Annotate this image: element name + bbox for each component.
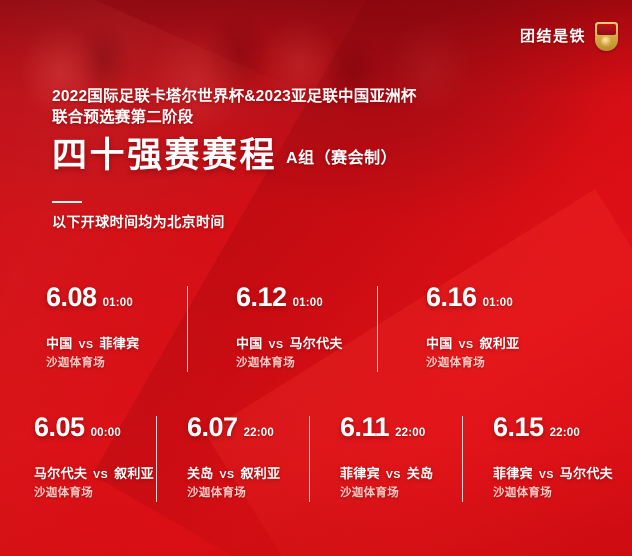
column-separator [462, 416, 463, 502]
fixture-home-team: 关岛 [187, 466, 214, 481]
fixture-datetime: 6.15 22:00 [493, 412, 632, 442]
heading-block: 2022国际足联卡塔尔世界杯&2023亚足联中国亚洲杯 联合预选赛第二阶段 四十… [52, 86, 417, 232]
fixture-cell: 6.08 01:00 中国 VS 菲律宾 沙迦体育场 [0, 282, 222, 370]
fixture-datetime: 6.11 22:00 [340, 412, 479, 442]
fixture-vs-label: VS [77, 339, 96, 351]
fixture-time: 01:00 [293, 296, 323, 310]
fixture-home-team: 中国 [46, 336, 73, 351]
fixture-date: 6.16 [426, 282, 477, 312]
fixture-away-team: 叙利亚 [240, 466, 280, 481]
fixture-cell: 6.15 22:00 菲律宾 VS 马尔代夫 沙迦体育场 [479, 412, 632, 500]
kicker-line-2: 联合预选赛第二阶段 [52, 107, 417, 128]
fixture-away-team: 马尔代夫 [289, 336, 342, 351]
fixture-teams: 中国 VS 菲律宾 [46, 336, 222, 353]
fixture-teams: 中国 VS 叙利亚 [426, 336, 602, 353]
fixture-venue: 沙迦体育场 [46, 356, 222, 370]
fixture-teams: 关岛 VS 叙利亚 [187, 466, 326, 483]
fixture-cell: 6.11 22:00 菲律宾 VS 关岛 沙迦体育场 [326, 412, 479, 500]
fixture-cell: 6.12 01:00 中国 VS 马尔代夫 沙迦体育场 [222, 282, 412, 370]
fixture-vs-label: VS [384, 469, 403, 481]
fixture-time: 01:00 [483, 296, 513, 310]
fixture-cell: 6.16 01:00 中国 VS 叙利亚 沙迦体育场 [412, 282, 602, 370]
schedule-poster: 团结是铁 2022国际足联卡塔尔世界杯&2023亚足联中国亚洲杯 联合预选赛第二… [0, 0, 632, 556]
fixture-away-team: 马尔代夫 [560, 466, 613, 481]
fixture-vs-label: VS [218, 469, 237, 481]
fixture-date: 6.12 [236, 282, 287, 312]
fixture-date: 6.11 [340, 412, 389, 442]
divider-rule [52, 201, 82, 203]
brand-lockup: 团结是铁 [520, 22, 618, 51]
brand-slogan: 团结是铁 [520, 29, 586, 44]
fixture-datetime: 6.16 01:00 [426, 282, 602, 312]
column-separator [377, 286, 378, 372]
fixture-vs-label: VS [91, 469, 110, 481]
fixture-venue: 沙迦体育场 [34, 486, 173, 500]
fixture-time: 00:00 [91, 426, 121, 440]
fixture-teams: 菲律宾 VS 马尔代夫 [493, 466, 632, 483]
fixture-date: 6.05 [34, 412, 85, 442]
fixture-date: 6.08 [46, 282, 97, 312]
fixture-time: 01:00 [103, 296, 133, 310]
fixture-home-team: 中国 [426, 336, 453, 351]
fixture-teams: 马尔代夫 VS 叙利亚 [34, 466, 173, 483]
fixture-time: 22:00 [244, 426, 274, 440]
fixture-home-team: 菲律宾 [340, 466, 380, 481]
fixture-vs-label: VS [537, 469, 556, 481]
fixture-teams: 菲律宾 VS 关岛 [340, 466, 479, 483]
fixture-venue: 沙迦体育场 [236, 356, 412, 370]
fixture-datetime: 6.12 01:00 [236, 282, 412, 312]
fixture-date: 6.15 [493, 412, 544, 442]
fixture-home-team: 马尔代夫 [34, 466, 87, 481]
fixture-row-1: 6.08 01:00 中国 VS 菲律宾 沙迦体育场 6.12 01:00 中国 [0, 282, 632, 370]
fixture-datetime: 6.08 01:00 [46, 282, 222, 312]
fixture-away-team: 菲律宾 [99, 336, 139, 351]
column-separator [309, 416, 310, 502]
page-title: 四十强赛赛程 [52, 137, 277, 175]
fixture-venue: 沙迦体育场 [493, 486, 632, 500]
fixture-row-2: 6.05 00:00 马尔代夫 VS 叙利亚 沙迦体育场 6.07 22:00 … [0, 412, 632, 500]
fixture-venue: 沙迦体育场 [426, 356, 602, 370]
fixture-venue: 沙迦体育场 [187, 486, 326, 500]
fixture-time: 22:00 [395, 426, 425, 440]
fixture-venue: 沙迦体育场 [340, 486, 479, 500]
fixture-date: 6.07 [187, 412, 238, 442]
page-title-suffix: A组（赛会制） [286, 146, 397, 175]
timezone-note: 以下开球时间均为北京时间 [52, 212, 417, 232]
title-row: 四十强赛赛程 A组（赛会制） [52, 137, 417, 175]
fixture-vs-label: VS [457, 339, 476, 351]
column-separator [156, 416, 157, 502]
fixture-time: 22:00 [550, 426, 580, 440]
kicker-line-1: 2022国际足联卡塔尔世界杯&2023亚足联中国亚洲杯 [52, 88, 417, 105]
cfa-crest-icon [595, 22, 618, 51]
fixture-away-team: 叙利亚 [114, 466, 154, 481]
fixture-home-team: 中国 [236, 336, 263, 351]
fixture-home-team: 菲律宾 [493, 466, 533, 481]
fixture-cell: 6.07 22:00 关岛 VS 叙利亚 沙迦体育场 [173, 412, 326, 500]
fixture-away-team: 关岛 [407, 466, 434, 481]
fixture-away-team: 叙利亚 [479, 336, 519, 351]
fixture-teams: 中国 VS 马尔代夫 [236, 336, 412, 353]
fixture-vs-label: VS [267, 339, 286, 351]
kicker: 2022国际足联卡塔尔世界杯&2023亚足联中国亚洲杯 联合预选赛第二阶段 [52, 86, 417, 128]
fixture-datetime: 6.07 22:00 [187, 412, 326, 442]
fixtures-section: 6.08 01:00 中国 VS 菲律宾 沙迦体育场 6.12 01:00 中国 [0, 282, 632, 500]
fixture-datetime: 6.05 00:00 [34, 412, 173, 442]
fixture-cell: 6.05 00:00 马尔代夫 VS 叙利亚 沙迦体育场 [0, 412, 173, 500]
column-separator [187, 286, 188, 372]
